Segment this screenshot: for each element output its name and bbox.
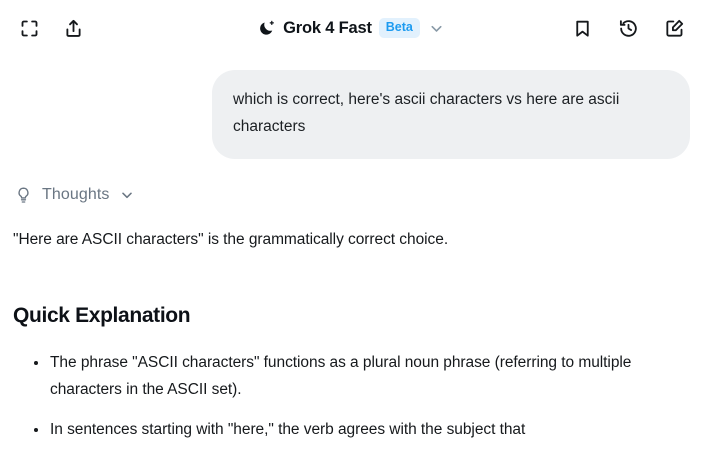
list-item: The phrase "ASCII characters" functions … bbox=[13, 350, 690, 404]
compose-icon[interactable] bbox=[659, 13, 689, 43]
thoughts-label: Thoughts bbox=[42, 186, 110, 204]
beta-badge: Beta bbox=[379, 18, 420, 37]
bookmark-icon[interactable] bbox=[567, 13, 597, 43]
header-left-actions bbox=[14, 13, 88, 43]
app-header: Grok 4 Fast Beta bbox=[0, 0, 703, 56]
conversation: which is correct, here's ascii character… bbox=[0, 70, 703, 444]
list-item: In sentences starting with "here," the v… bbox=[13, 417, 690, 444]
model-name: Grok 4 Fast bbox=[283, 19, 372, 38]
fullscreen-icon[interactable] bbox=[14, 13, 44, 43]
header-right-actions bbox=[567, 13, 689, 43]
share-icon[interactable] bbox=[58, 13, 88, 43]
answer-lead-paragraph: "Here are ASCII characters" is the gramm… bbox=[13, 227, 690, 252]
moon-sparkle-icon bbox=[258, 19, 276, 37]
user-message-bubble: which is correct, here's ascii character… bbox=[212, 70, 690, 159]
user-message-row: which is correct, here's ascii character… bbox=[13, 70, 690, 159]
explanation-list: The phrase "ASCII characters" functions … bbox=[13, 350, 690, 444]
thoughts-toggle[interactable]: Thoughts bbox=[14, 186, 135, 205]
history-icon[interactable] bbox=[613, 13, 643, 43]
chevron-down-icon[interactable] bbox=[119, 187, 135, 203]
section-heading: Quick Explanation bbox=[13, 304, 690, 328]
chevron-down-icon[interactable] bbox=[428, 20, 445, 37]
lightbulb-icon bbox=[14, 186, 33, 205]
assistant-answer: "Here are ASCII characters" is the gramm… bbox=[13, 227, 690, 445]
